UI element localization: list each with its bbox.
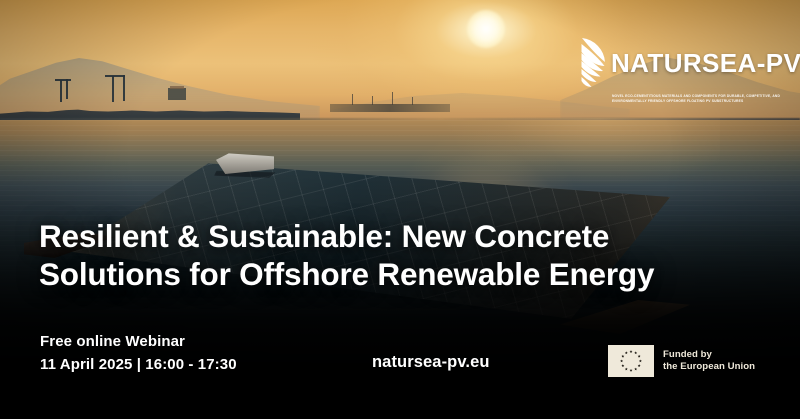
natursea-pv-logo[interactable]: NATURSEA-PV NOVEL ECO-CEMENTITIOUS MATER… (549, 32, 789, 112)
headline-line-2: Solutions for Offshore Renewable Energy (39, 255, 739, 293)
headline-line-1: Resilient & Sustainable: New Concrete (39, 218, 609, 254)
logo-wordmark: NATURSEA-PV (611, 50, 800, 76)
natursea-pv-mark-icon (549, 32, 611, 94)
event-datetime-label: 11 April 2025 | 16:00 - 17:30 (40, 353, 237, 376)
logo-tagline: NOVEL ECO-CEMENTITIOUS MATERIALS AND COM… (612, 94, 784, 104)
event-type-label: Free online Webinar (40, 330, 237, 353)
eu-funding-badge: Funded by the European Union (608, 344, 755, 378)
website-url-link[interactable]: natursea-pv.eu (372, 353, 490, 372)
european-union-flag-icon (608, 345, 654, 377)
event-details: Free online Webinar 11 April 2025 | 16:0… (40, 330, 237, 376)
webinar-promo-banner: NATURSEA-PV NOVEL ECO-CEMENTITIOUS MATER… (0, 0, 800, 419)
eu-funding-line-2: the European Union (663, 361, 755, 373)
eu-funding-line-1: Funded by (663, 349, 755, 361)
page-title: Resilient & Sustainable: New Concrete So… (39, 217, 739, 293)
eu-funding-text: Funded by the European Union (663, 349, 755, 374)
